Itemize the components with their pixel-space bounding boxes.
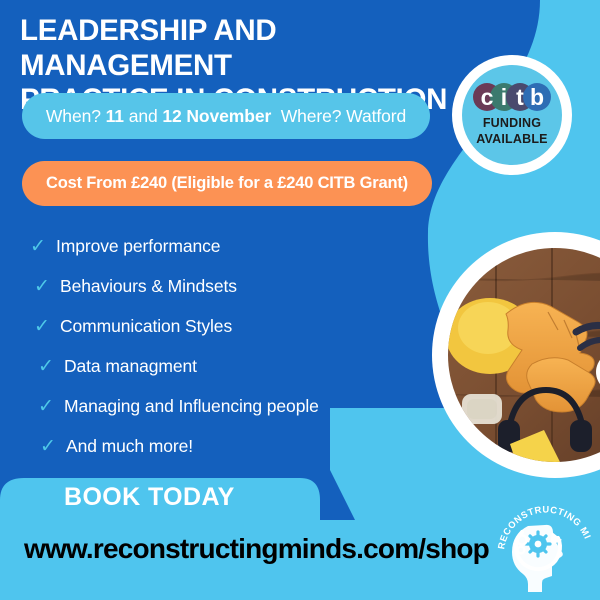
- list-item-label: Communication Styles: [60, 316, 232, 337]
- date-day-2: 12 November: [162, 106, 271, 126]
- reconstructing-minds-logo: RECONSTRUCTING MINDS: [494, 490, 594, 594]
- citb-funding-line-2: AVAILABLE: [476, 132, 547, 148]
- list-item: ✓ Improve performance: [30, 226, 426, 266]
- check-icon: ✓: [38, 397, 64, 416]
- website-url[interactable]: www.reconstructingminds.com/shop: [24, 533, 489, 565]
- when-where-text: When? 11 and 12 November Where? Watford: [46, 106, 406, 127]
- list-item-label: Improve performance: [56, 236, 220, 257]
- list-item: ✓ Managing and Influencing people: [38, 386, 426, 426]
- when-label: When?: [46, 106, 101, 126]
- cost-banner: Cost From £240 (Eligible for a £240 CITB…: [22, 161, 432, 206]
- list-item-label: Managing and Influencing people: [64, 396, 319, 417]
- list-item-label: Data managment: [64, 356, 197, 377]
- ppe-photo: [448, 248, 600, 462]
- date-day-1: 11: [106, 106, 124, 126]
- svg-text:t: t: [516, 84, 524, 110]
- check-icon: ✓: [30, 237, 56, 256]
- svg-text:i: i: [501, 84, 507, 110]
- list-item: ✓ Communication Styles: [34, 306, 426, 346]
- where-location: Watford: [346, 106, 406, 126]
- book-today-cta[interactable]: BOOK TODAY: [64, 483, 235, 512]
- when-where-pill: When? 11 and 12 November Where? Watford: [22, 93, 430, 139]
- headline-line-1: LEADERSHIP AND MANAGEMENT: [20, 14, 276, 82]
- promo-poster: LEADERSHIP AND MANAGEMENT PRACTICE IN CO…: [0, 0, 600, 600]
- list-item: ✓ Behaviours & Mindsets: [34, 266, 426, 306]
- svg-text:c: c: [481, 84, 494, 110]
- check-icon: ✓: [34, 277, 60, 296]
- svg-text:b: b: [530, 84, 544, 110]
- citb-logo-icon: c i t b: [471, 82, 553, 112]
- course-benefits-list: ✓ Improve performance ✓ Behaviours & Min…: [26, 226, 426, 466]
- check-icon: ✓: [34, 317, 60, 336]
- list-item: ✓ Data managment: [38, 346, 426, 386]
- list-item-label: And much more!: [66, 436, 193, 457]
- list-item: ✓ And much more!: [40, 426, 426, 466]
- check-icon: ✓: [38, 357, 64, 376]
- list-item-label: Behaviours & Mindsets: [60, 276, 237, 297]
- citb-funding-line-1: FUNDING: [483, 116, 541, 132]
- where-label: Where?: [281, 106, 342, 126]
- date-conjunction: and: [129, 106, 158, 126]
- check-icon: ✓: [40, 437, 66, 456]
- citb-badge-inner: c i t b FUNDING AVAILABLE: [462, 65, 562, 165]
- citb-funding-badge: c i t b FUNDING AVAILABLE: [452, 55, 572, 175]
- cost-banner-text: Cost From £240 (Eligible for a £240 CITB…: [46, 174, 408, 193]
